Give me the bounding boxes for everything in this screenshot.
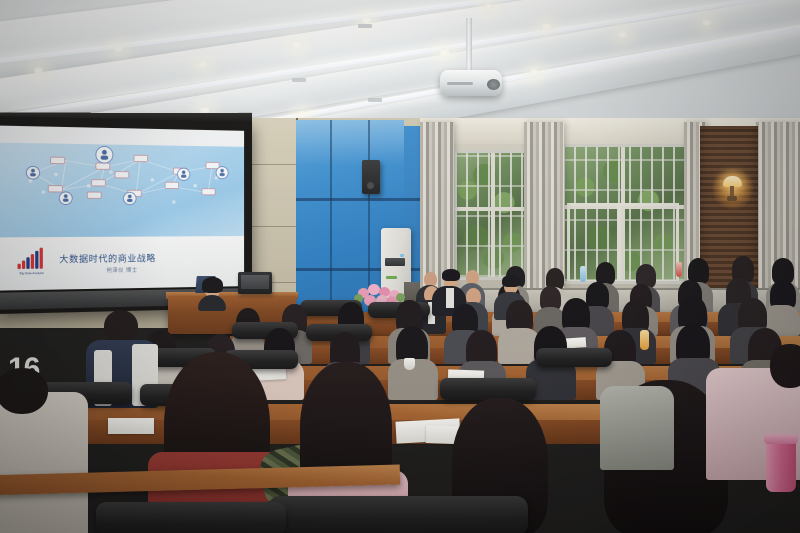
- air-conditioner-indicator: [400, 254, 404, 257]
- ceiling-vent: [292, 78, 306, 82]
- ceiling-downlight: [32, 66, 45, 75]
- slide-logo-caption: Big Data Analysis: [15, 272, 48, 276]
- ceiling-downlight: [616, 30, 629, 39]
- slide-subtitle: 何泽仪 博士: [59, 266, 156, 275]
- paper-sheet: [108, 418, 154, 434]
- slide-network-graphic: [0, 142, 244, 238]
- chair-back: [268, 496, 528, 533]
- presenter-monitor: [238, 272, 272, 294]
- pink-thermos: [766, 440, 796, 492]
- air-conditioner-grill: [385, 258, 405, 266]
- chair-back: [440, 378, 536, 400]
- ceiling-downlight: [196, 60, 209, 69]
- window: [452, 150, 528, 280]
- lecture-hall-photo: Big Data Analysis 大数据时代的商业战略 何泽仪 博士: [0, 0, 800, 533]
- ceiling-downlight: [482, 2, 495, 11]
- window-curtain: [524, 122, 564, 290]
- pink-thermos-lid: [764, 434, 798, 444]
- slide-title: 大数据时代的商业战略: [59, 252, 156, 265]
- person-body: [600, 386, 674, 470]
- chair-back: [536, 348, 612, 367]
- chair-back: [96, 502, 286, 533]
- paper-cup: [404, 358, 415, 370]
- orange-bottle: [640, 330, 649, 350]
- air-conditioner-logo: [386, 276, 397, 279]
- water-bottle: [580, 266, 586, 282]
- sconce-base: [727, 196, 737, 201]
- ceiling-downlight: [540, 22, 553, 31]
- ceiling-vent: [358, 24, 372, 28]
- wall-speaker: [362, 160, 380, 194]
- projector-mount-rod: [466, 18, 472, 72]
- projector-lens: [487, 79, 500, 90]
- ceiling-downlight: [528, 68, 541, 77]
- window: [560, 144, 688, 284]
- ceiling-vent: [368, 98, 382, 102]
- water-bottle: [676, 262, 682, 277]
- window-curtain: [420, 122, 454, 290]
- ceiling-downlight: [290, 40, 303, 49]
- person-hair: [0, 368, 48, 414]
- slide-logo: Big Data Analysis: [15, 252, 48, 276]
- slide-network-lines: [0, 142, 244, 208]
- projector-vent: [447, 82, 473, 85]
- ceiling-downlight: [112, 44, 125, 53]
- ceiling-downlight: [438, 48, 451, 57]
- ceiling-downlight: [700, 18, 713, 27]
- person-hair: [770, 344, 800, 388]
- projected-slide: Big Data Analysis 大数据时代的商业战略 何泽仪 博士: [0, 126, 244, 291]
